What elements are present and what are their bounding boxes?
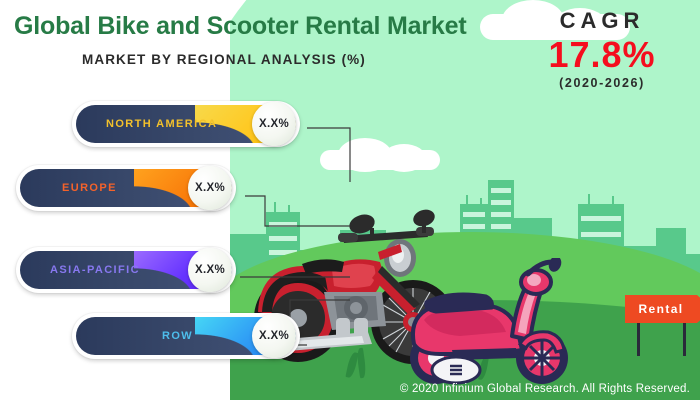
page-subtitle: MARKET BY REGIONAL ANALYSIS (%) [82, 52, 366, 67]
cagr-block: CAGR 17.8% (2020-2026) [522, 8, 682, 90]
cagr-period: (2020-2026) [522, 76, 682, 90]
region-bars: NORTH AMERICA X.X% EUROPE X.X% ASIA-PACI… [0, 95, 340, 375]
page-title: Global Bike and Scooter Rental Market [14, 12, 466, 41]
infographic-root: Rental © 2020 Infinium Global Research. … [0, 0, 700, 400]
rental-sign-label: Rental [625, 295, 697, 323]
region-bar-north-america[interactable]: NORTH AMERICA X.X% [72, 101, 300, 147]
region-value-bubble: X.X% [188, 248, 232, 292]
region-bar-europe[interactable]: EUROPE X.X% [16, 165, 236, 211]
copyright-footer: © 2020 Infinium Global Research. All Rig… [400, 383, 690, 395]
region-label: ROW [162, 317, 193, 355]
region-label: NORTH AMERICA [106, 105, 217, 143]
region-value-bubble: X.X% [252, 102, 296, 146]
region-value-bubble: X.X% [252, 314, 296, 358]
scooter-illustration [400, 258, 585, 393]
region-bar-row[interactable]: ROW X.X% [72, 313, 300, 359]
region-label: ASIA-PACIFIC [50, 251, 140, 289]
cagr-label: CAGR [522, 8, 682, 34]
region-value-bubble: X.X% [188, 166, 232, 210]
rental-sign: Rental [625, 295, 700, 323]
region-label: EUROPE [62, 169, 117, 207]
cagr-value: 17.8% [522, 36, 682, 74]
region-bar-asia-pacific[interactable]: ASIA-PACIFIC X.X% [16, 247, 236, 293]
